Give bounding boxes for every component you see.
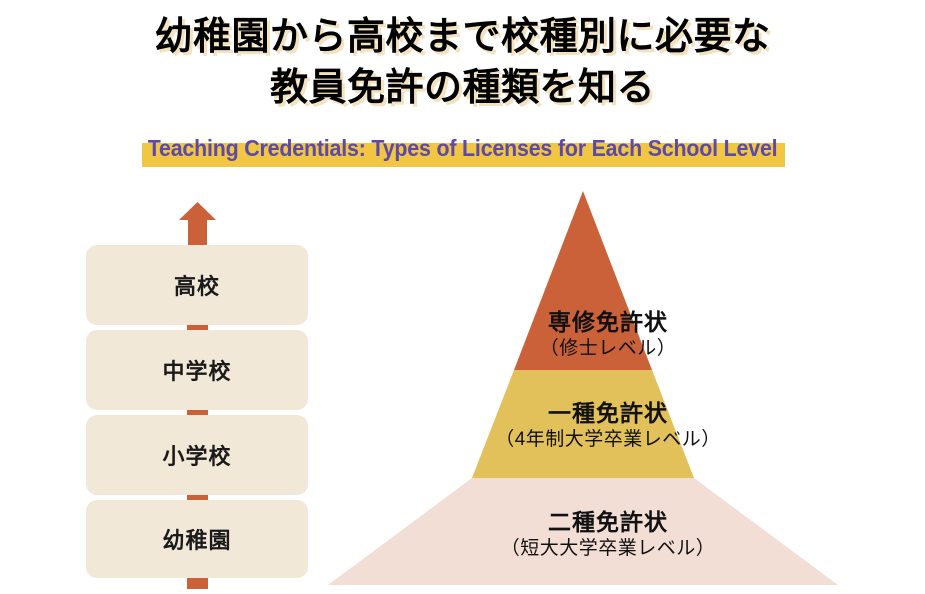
tier-2-detail: （4年制大学卒業レベル）	[328, 428, 888, 453]
tier-3-name: 二種免許状	[328, 508, 888, 537]
ladder-item-kindergarten[interactable]: 幼稚園	[86, 500, 308, 578]
ladder-item-label: 幼稚園	[162, 523, 231, 555]
pyramid-tier-3-label: 二種免許状 （短大大学卒業レベル）	[328, 508, 888, 561]
upward-arrow-icon	[179, 202, 216, 248]
tier-2-name: 一種免許状	[328, 399, 888, 428]
tier-3-detail: （短大大学卒業レベル）	[328, 537, 888, 562]
ladder-item-high-school[interactable]: 高校	[86, 245, 308, 325]
ladder-connector	[187, 578, 208, 589]
pyramid-tier-2-label: 一種免許状 （4年制大学卒業レベル）	[328, 399, 888, 452]
license-pyramid: 専修免許状 （修士レベル） 一種免許状 （4年制大学卒業レベル） 二種免許状 （…	[300, 180, 900, 594]
slide-canvas: 幼稚園から高校まで校種別に必要な 教員免許の種類を知る Teaching Cre…	[0, 0, 925, 594]
pyramid-tier-1-label: 専修免許状 （修士レベル）	[328, 308, 888, 361]
ladder-item-junior-high-school[interactable]: 中学校	[86, 330, 308, 410]
ladder-item-label: 高校	[174, 269, 220, 301]
ladder-item-label: 小学校	[162, 439, 231, 471]
school-ladder: 高校 中学校 小学校 幼稚園	[0, 0, 330, 594]
tier-1-name: 専修免許状	[328, 308, 888, 337]
ladder-item-elementary-school[interactable]: 小学校	[86, 415, 308, 495]
tier-1-detail: （修士レベル）	[328, 337, 888, 362]
ladder-item-label: 中学校	[162, 354, 231, 386]
